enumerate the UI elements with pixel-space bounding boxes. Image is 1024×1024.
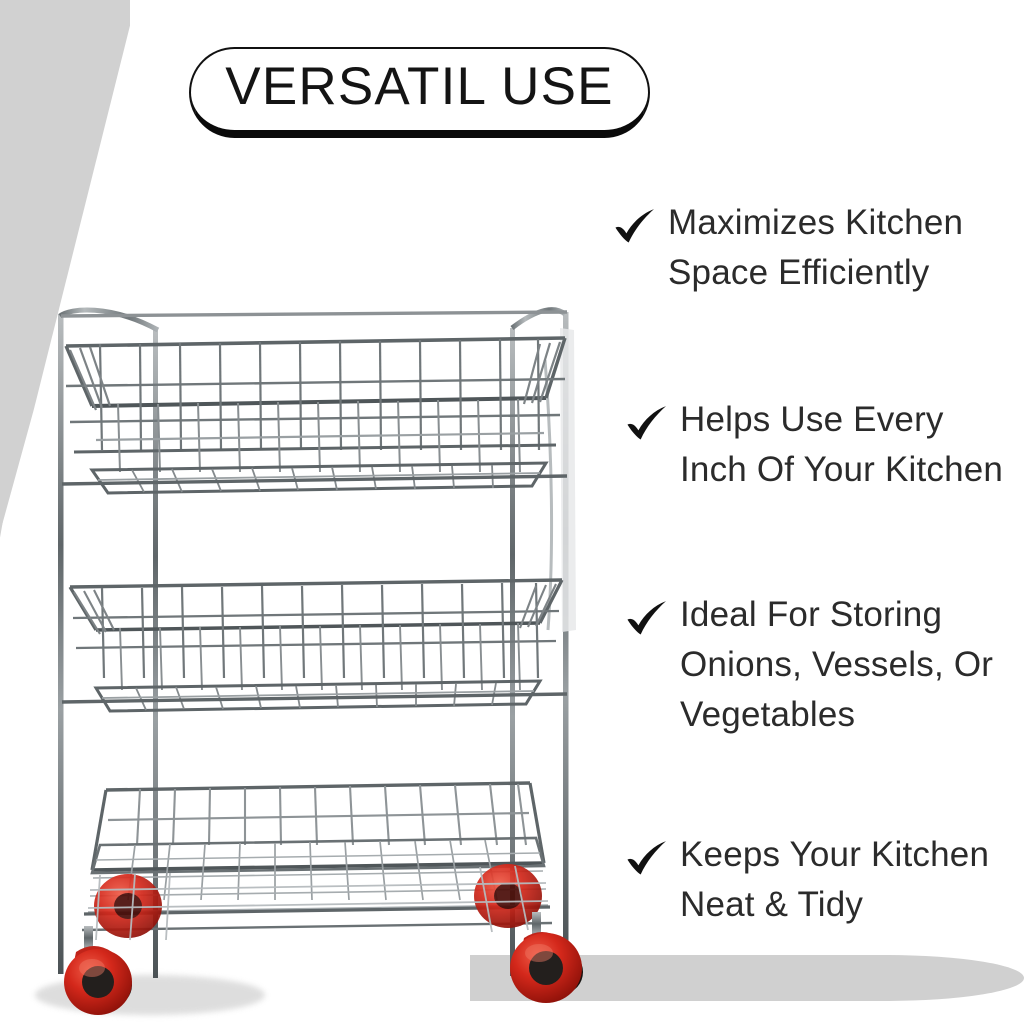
- check-icon: [612, 204, 658, 250]
- check-icon: [624, 596, 670, 642]
- list-item-label: Helps Use Every Inch Of Your Kitchen: [680, 395, 1003, 495]
- infographic-canvas: VERSATIL USE: [0, 0, 1024, 1024]
- title-pill: VERSATIL USE: [189, 47, 650, 138]
- list-item: Helps Use Every Inch Of Your Kitchen: [624, 395, 1003, 495]
- check-icon: [624, 401, 670, 447]
- list-item: Ideal For Storing Onions, Vessels, Or Ve…: [624, 590, 993, 740]
- list-item-label: Keeps Your Kitchen Neat & Tidy: [680, 830, 989, 930]
- list-item-label: Maximizes Kitchen Space Efficiently: [668, 198, 963, 298]
- check-icon: [624, 836, 670, 882]
- list-item: Keeps Your Kitchen Neat & Tidy: [624, 830, 989, 930]
- page-title: VERSATIL USE: [225, 60, 613, 113]
- list-item: Maximizes Kitchen Space Efficiently: [612, 198, 963, 298]
- product-image-kitchen-trolley: [40, 300, 630, 1015]
- list-item-label: Ideal For Storing Onions, Vessels, Or Ve…: [680, 590, 993, 740]
